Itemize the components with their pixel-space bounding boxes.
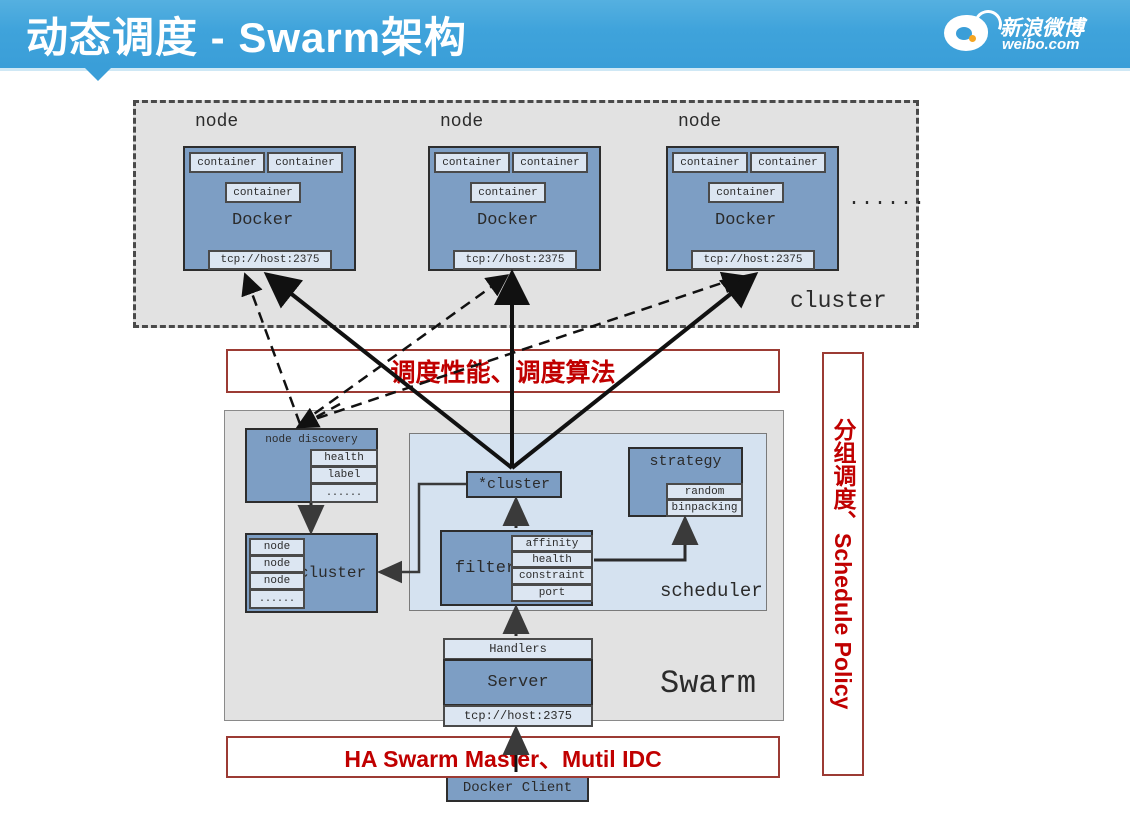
annotation-top-text: 调度性能、调度算法 xyxy=(390,353,615,389)
annotation-bottom-box: HA Swarm Master、Mutil IDC xyxy=(226,736,780,778)
annotation-side-box: 分组调度、Schedule Policy xyxy=(822,352,864,776)
node-discovery-row-more: ...... xyxy=(310,483,378,503)
weibo-logo-en: weibo.com xyxy=(1002,36,1080,53)
strategy-row-binpacking: binpacking xyxy=(666,499,743,517)
node-1-container-3: container xyxy=(225,182,301,203)
annotation-bottom-text: HA Swarm Master、Mutil IDC xyxy=(344,740,661,774)
page-title: 动态调度 - Swarm架构 xyxy=(26,4,467,65)
weibo-logo: 新浪微博 weibo.com xyxy=(934,10,1114,56)
node-1-container-2: container xyxy=(267,152,343,173)
annotation-side-text: 分组调度、Schedule Policy xyxy=(826,418,860,709)
filter-row-health: health xyxy=(511,551,593,568)
node-3-label: node xyxy=(678,112,721,132)
docker-client-box: Docker Client xyxy=(446,774,589,802)
scheduler-label: scheduler xyxy=(660,580,763,602)
node-2-endpoint: tcp://host:2375 xyxy=(453,250,577,270)
node-3-container-1: container xyxy=(672,152,748,173)
node-discovery-title: node discovery xyxy=(247,434,376,446)
node-3-container-3: container xyxy=(708,182,784,203)
server-box: Server xyxy=(443,659,593,706)
cluster-store-row-2: node xyxy=(249,555,305,573)
cluster-zone-ellipsis: ...... xyxy=(848,188,926,211)
filter-title: filter xyxy=(455,559,516,578)
filter-row-constraint: constraint xyxy=(511,567,593,585)
header-notch-icon xyxy=(85,68,111,81)
strategy-row-random: random xyxy=(666,483,743,500)
annotation-top-box: 调度性能、调度算法 xyxy=(226,349,780,393)
node-3-container-2: container xyxy=(750,152,826,173)
strategy-title: strategy xyxy=(630,453,741,470)
cluster-store-row-3: node xyxy=(249,572,305,590)
node-3-engine-label: Docker xyxy=(715,211,776,230)
node-3-endpoint: tcp://host:2375 xyxy=(691,250,815,270)
node-2-label: node xyxy=(440,112,483,132)
node-1-engine-label: Docker xyxy=(232,211,293,230)
filter-row-port: port xyxy=(511,584,593,602)
node-1-endpoint: tcp://host:2375 xyxy=(208,250,332,270)
node-2-container-2: container xyxy=(512,152,588,173)
node-discovery-row-health: health xyxy=(310,449,378,467)
server-endpoint: tcp://host:2375 xyxy=(443,705,593,727)
node-1-container-1: container xyxy=(189,152,265,173)
page-header: 动态调度 - Swarm架构 新浪微博 weibo.com xyxy=(0,0,1130,68)
node-1-label: node xyxy=(195,112,238,132)
cluster-store-row-1: node xyxy=(249,538,305,556)
node-2-container-3: container xyxy=(470,182,546,203)
cluster-store-title: cluster xyxy=(299,564,366,582)
node-discovery-row-label: label xyxy=(310,466,378,484)
cluster-store-row-4: ...... xyxy=(249,589,305,609)
header-underline xyxy=(0,68,1130,71)
cluster-zone-label: cluster xyxy=(790,288,887,314)
node-2-engine-label: Docker xyxy=(477,211,538,230)
swarm-label: Swarm xyxy=(660,665,756,702)
cluster-ref-box: *cluster xyxy=(466,471,562,498)
server-handlers: Handlers xyxy=(443,638,593,660)
filter-row-affinity: affinity xyxy=(511,535,593,552)
node-2-container-1: container xyxy=(434,152,510,173)
